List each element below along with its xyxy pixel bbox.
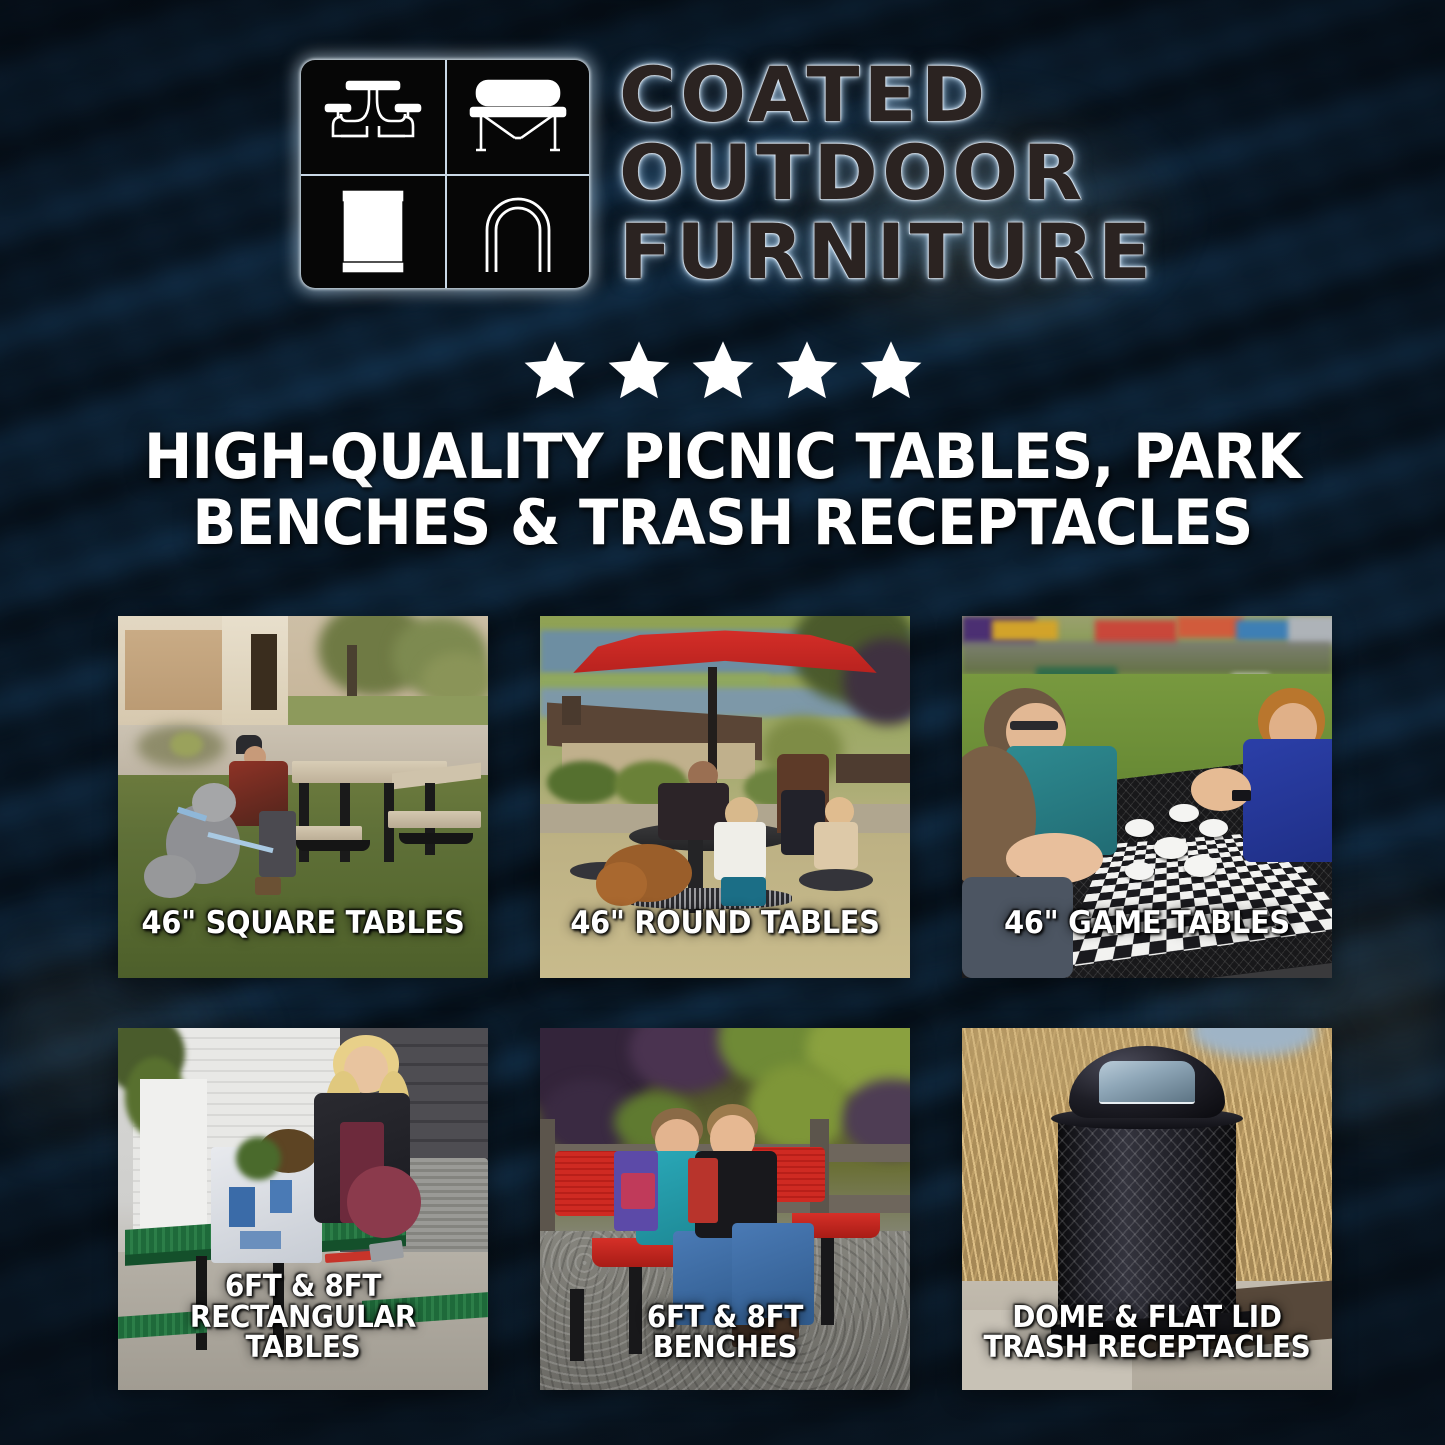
product-tile-benches[interactable]: 6FT & 8FT BENCHES (540, 1028, 910, 1390)
product-caption-game-tables: 46" GAME TABLES (975, 908, 1319, 940)
caption-line-1: 46" ROUND TABLES (570, 905, 879, 941)
star-icon-3 (690, 338, 756, 402)
caption-line-1: 46" GAME TABLES (1004, 905, 1290, 941)
caption-line-2: BENCHES (560, 1333, 889, 1364)
product-tile-square-tables[interactable]: 46" SQUARE TABLES (118, 616, 488, 978)
product-caption-trash-receptacles: DOME & FLAT LID TRASH RECEPTACLES (975, 1303, 1319, 1364)
product-caption-benches: 6FT & 8FT BENCHES (553, 1303, 897, 1364)
caption-line-1: 6FT & 8FT (647, 1300, 803, 1335)
star-icon-2 (606, 338, 672, 402)
page-title: HIGH-QUALITY PICNIC TABLES, PARK BENCHES… (51, 424, 1395, 555)
bike-rack-icon (445, 174, 589, 288)
star-icon-5 (858, 338, 924, 402)
product-tile-trash-receptacles[interactable]: DOME & FLAT LID TRASH RECEPTACLES (962, 1028, 1332, 1390)
park-bench-icon (445, 60, 589, 174)
logo-wordmark: COATED OUTDOOR FURNITURE (619, 58, 1145, 289)
star-icon-1 (522, 338, 588, 402)
star-rating (0, 338, 1445, 402)
caption-line-1: 6FT & 8FT (225, 1269, 381, 1304)
logo-line-2: OUTDOOR (619, 136, 1155, 210)
product-caption-round-tables: 46" ROUND TABLES (553, 908, 897, 940)
logo-line-3: FURNITURE (619, 215, 1155, 289)
product-tile-game-tables[interactable]: 46" GAME TABLES (962, 616, 1332, 978)
caption-line-2: RECTANGULAR TABLES (138, 1303, 467, 1364)
caption-line-1: 46" SQUARE TABLES (142, 905, 465, 941)
star-icon-4 (774, 338, 840, 402)
product-tile-rectangular-tables[interactable]: 6FT & 8FT RECTANGULAR TABLES (118, 1028, 488, 1390)
headline-line-2: BENCHES & TRASH RECEPTACLES (106, 490, 1338, 556)
picnic-table-icon (301, 60, 445, 174)
product-caption-square-tables: 46" SQUARE TABLES (131, 908, 475, 940)
brand-logo: COATED OUTDOOR FURNITURE (0, 58, 1445, 289)
product-grid: 46" SQUARE TABLES (118, 616, 1332, 1390)
caption-line-2: TRASH RECEPTACLES (982, 1333, 1311, 1364)
product-caption-rectangular-tables: 6FT & 8FT RECTANGULAR TABLES (131, 1272, 475, 1364)
trash-receptacle-icon (301, 174, 445, 288)
product-tile-round-tables[interactable]: 46" ROUND TABLES (540, 616, 910, 978)
caption-line-1: DOME & FLAT LID (1012, 1300, 1282, 1335)
logo-line-1: COATED (619, 58, 1155, 132)
headline-line-1: HIGH-QUALITY PICNIC TABLES, PARK (106, 424, 1338, 490)
logo-icon-grid (301, 60, 589, 288)
